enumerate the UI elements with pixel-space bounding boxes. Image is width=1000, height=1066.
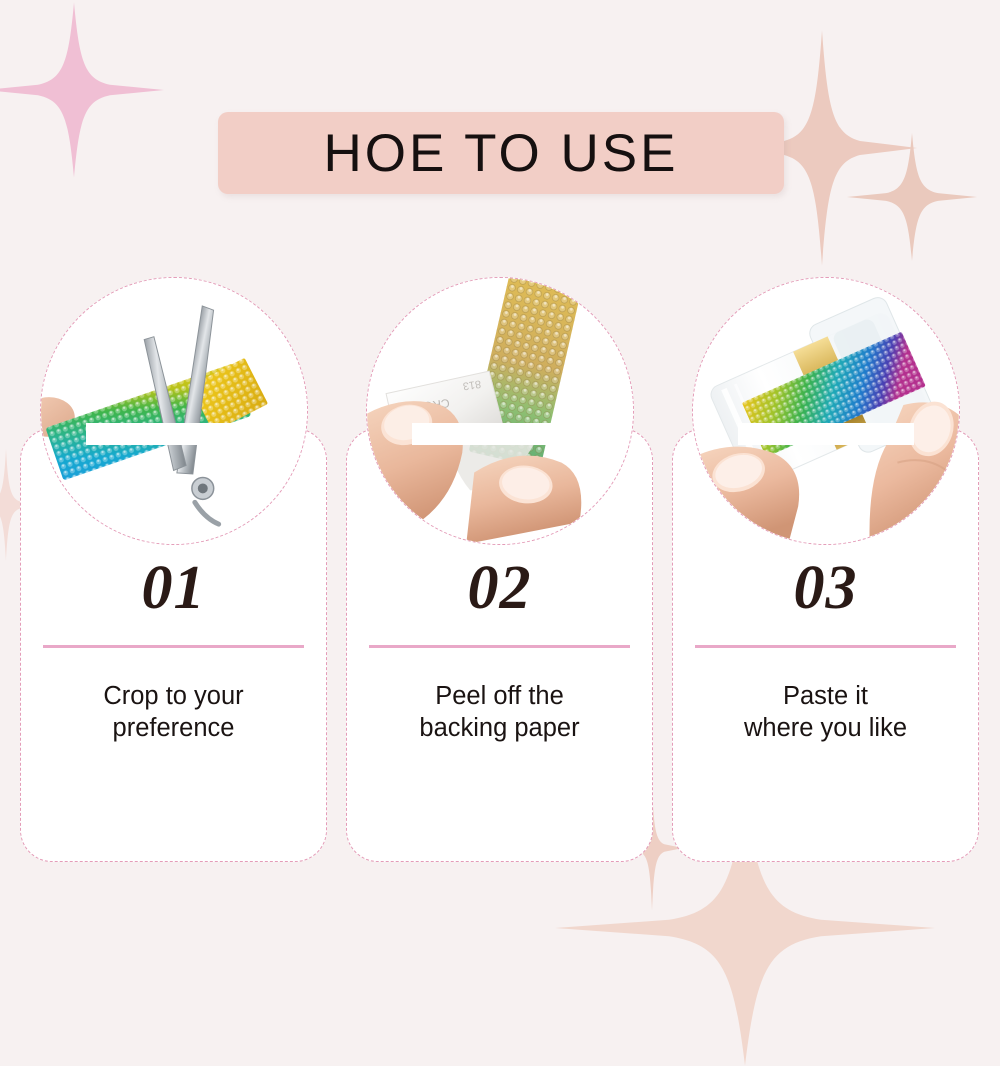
step-02-caption-line-2: backing paper <box>365 712 634 745</box>
step-01-body: 01 Crop to your preference <box>21 557 326 745</box>
step-03-caption-line-1: Paste it <box>691 680 960 713</box>
step-02-photo-circle: CROWN 813 <box>366 277 634 545</box>
step-card-02[interactable]: CROWN 813 02 <box>346 428 653 862</box>
step-01-number: 01 <box>21 557 326 619</box>
step-03-number: 03 <box>673 557 978 619</box>
step-03-caption: Paste it where you like <box>673 680 978 745</box>
step-02-divider <box>369 645 630 648</box>
step-03-circle-mask <box>738 423 914 445</box>
step-03-caption-line-2: where you like <box>691 712 960 745</box>
svg-text:813: 813 <box>462 377 482 391</box>
step-01-caption: Crop to your preference <box>21 680 326 745</box>
step-card-01[interactable]: 01 Crop to your preference <box>20 428 327 862</box>
step-02-caption-line-1: Peel off the <box>365 680 634 713</box>
step-03-photo-circle <box>692 277 960 545</box>
step-03-body: 03 Paste it where you like <box>673 557 978 745</box>
step-02-number: 02 <box>347 557 652 619</box>
page-title: HOE TO USE <box>324 127 679 180</box>
peeling-backing-paper-photo: CROWN 813 <box>367 278 633 544</box>
step-02-body: 02 Peel off the backing paper <box>347 557 652 745</box>
page-title-banner: HOE TO USE <box>218 112 784 194</box>
step-01-circle-mask <box>86 423 262 445</box>
step-02-caption: Peel off the backing paper <box>347 680 652 745</box>
step-01-caption-line-1: Crop to your <box>39 680 308 713</box>
step-02-circle-mask <box>412 423 588 445</box>
step-card-03[interactable]: 03 Paste it where you like <box>672 428 979 862</box>
rhinestone-tape-on-bottle-photo <box>693 278 959 544</box>
step-03-divider <box>695 645 956 648</box>
step-01-caption-line-2: preference <box>39 712 308 745</box>
step-01-divider <box>43 645 304 648</box>
scissors-cutting-rhinestone-tape-photo <box>41 278 307 544</box>
step-01-photo-circle <box>40 277 308 545</box>
